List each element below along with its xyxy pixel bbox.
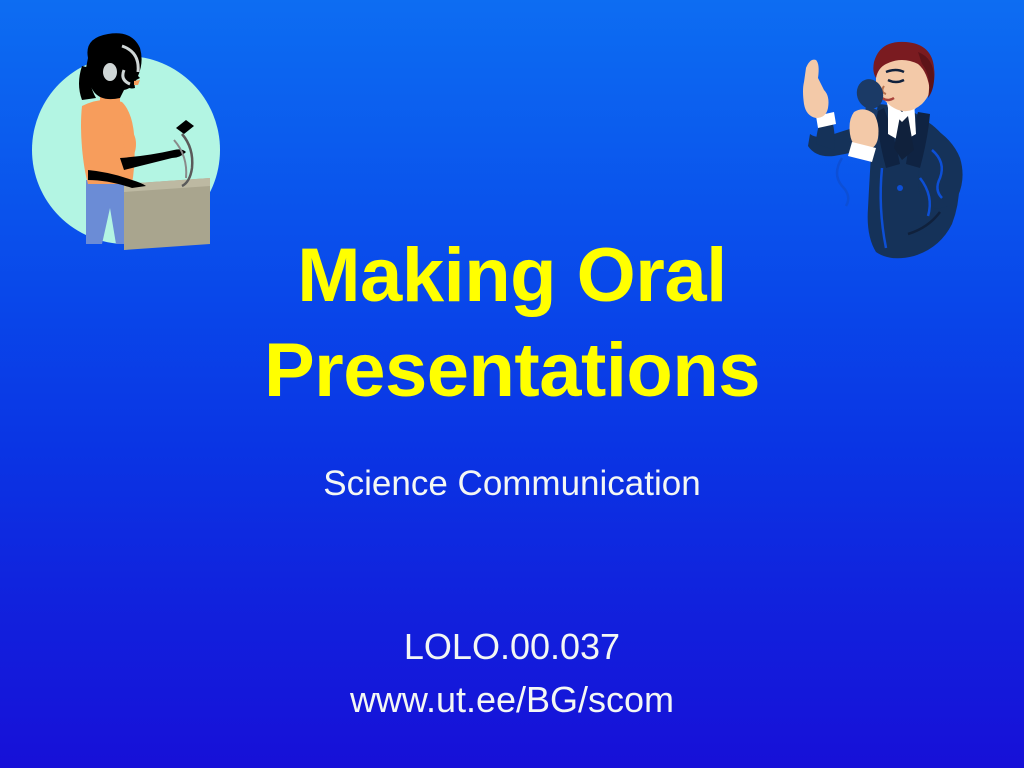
course-code: LOLO.00.037 — [128, 620, 896, 673]
footer: LOLO.00.037 www.ut.ee/BG/scom — [128, 620, 896, 726]
title-line-1: Making Oral — [128, 228, 896, 323]
woman-speaker-at-podium-icon — [24, 28, 228, 254]
website-url: www.ut.ee/BG/scom — [128, 673, 896, 726]
slide-canvas: Making Oral Presentations Science Commun… — [0, 0, 1024, 768]
subtitle: Science Communication — [128, 462, 896, 506]
title-line-2: Presentations — [128, 323, 896, 418]
page-title: Making Oral Presentations — [128, 228, 896, 418]
subtitle-line-1: Science Communication — [128, 462, 896, 506]
